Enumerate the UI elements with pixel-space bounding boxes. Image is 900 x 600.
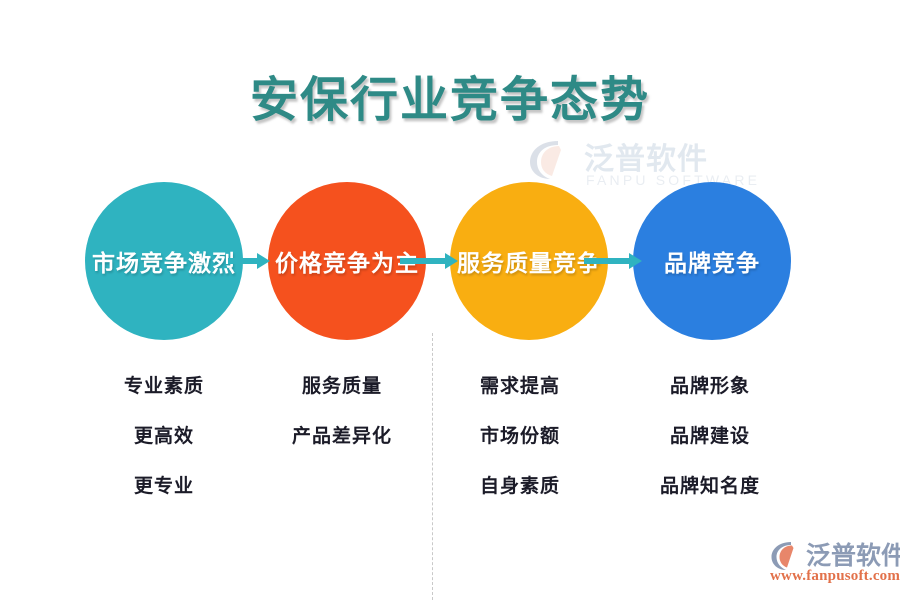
- page-title: 安保行业竞争态势: [0, 60, 900, 130]
- arrow-shaft: [228, 258, 258, 264]
- flow-node-market-competition[interactable]: 市场竞争激烈: [85, 182, 243, 340]
- fanpu-watermark-cn: 泛普软件: [584, 134, 708, 178]
- detail-column-price-competition: 服务质量 产品差异化: [247, 362, 437, 462]
- arrow-right-icon: [584, 253, 642, 269]
- fanpu-swirl-logo-icon: [528, 138, 576, 182]
- flow-node-label: 服务质量竞争: [457, 244, 601, 278]
- flow-node-label: 价格竞争为主: [275, 244, 419, 278]
- detail-item: 更高效: [69, 412, 259, 462]
- fanpu-brand-url[interactable]: www.fanpusoft.com: [770, 568, 900, 585]
- detail-item: 自身素质: [425, 462, 615, 512]
- detail-item: 服务质量: [247, 362, 437, 412]
- detail-item: 品牌建设: [615, 412, 805, 462]
- detail-item: 专业素质: [69, 362, 259, 412]
- arrow-head: [445, 253, 458, 269]
- detail-item: 更专业: [69, 462, 259, 512]
- flow-node-brand-competition[interactable]: 品牌竞争: [633, 182, 791, 340]
- detail-item: 产品差异化: [247, 412, 437, 462]
- arrow-right-icon: [400, 253, 458, 269]
- arrow-head: [257, 253, 270, 269]
- fanpu-brand-logo[interactable]: 泛普软件 www.fanpusoft.com: [770, 538, 894, 590]
- arrow-shaft: [584, 258, 630, 264]
- fanpu-brand-cn: 泛普软件: [806, 536, 900, 572]
- detail-column-market-competition: 专业素质 更高效 更专业: [69, 362, 259, 512]
- detail-item: 品牌知名度: [615, 462, 805, 512]
- detail-column-service-quality: 需求提高 市场份额 自身素质: [425, 362, 615, 512]
- flow-node-label: 市场竞争激烈: [92, 244, 236, 278]
- detail-item: 需求提高: [425, 362, 615, 412]
- flow-node-label: 品牌竞争: [664, 244, 760, 278]
- detail-item: 品牌形象: [615, 362, 805, 412]
- detail-column-brand-competition: 品牌形象 品牌建设 品牌知名度: [615, 362, 805, 512]
- arrow-shaft: [400, 258, 446, 264]
- detail-item: 市场份额: [425, 412, 615, 462]
- arrow-head: [629, 253, 642, 269]
- arrow-right-icon: [228, 253, 270, 269]
- slide-canvas: 安保行业竞争态势 泛普软件 FANPU SOFTWARE 市场竞争激烈 价格竞争…: [0, 0, 900, 600]
